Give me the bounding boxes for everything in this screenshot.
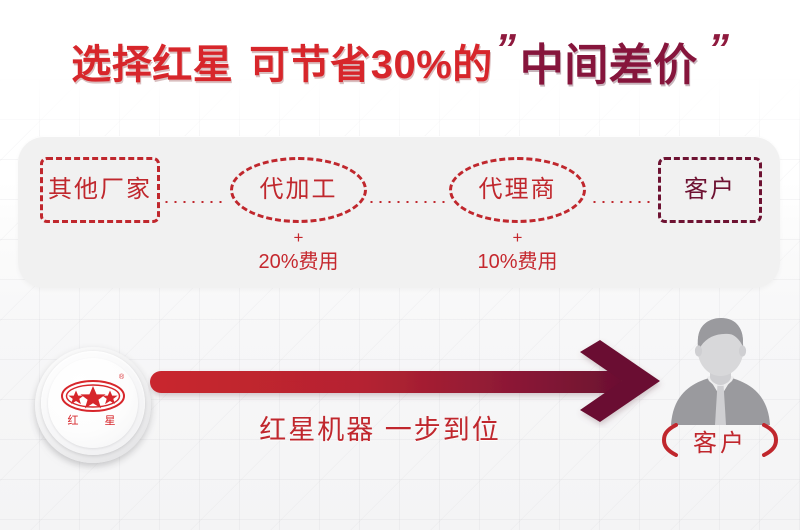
flow-node-label: 其他厂家 (48, 178, 152, 202)
arrow-caption: 红星机器 一步到位 (180, 408, 580, 447)
poster-canvas: 选择红星 可节省30%的 ” 中间差价 ” 其他厂家 代加工 + 20%费用 (0, 0, 800, 530)
registered-mark: ® (119, 373, 125, 381)
flow-node-fee-oem: + 20%费用 (230, 228, 367, 274)
fee-plus-sign: + (449, 228, 586, 248)
headline-highlight: 中间差价 (520, 29, 698, 93)
fee-plus-sign: + (230, 228, 367, 248)
bracket-left-icon (661, 423, 679, 457)
logo-char-2: 星 (105, 414, 116, 427)
flow-row: 其他厂家 代加工 + 20%费用 代理商 + 10%费用 客户 (18, 136, 780, 288)
flow-connector-2 (367, 200, 447, 204)
flow-node-fee-agent: + 10%费用 (449, 228, 586, 274)
flow-node-agent[interactable]: 代理商 (449, 157, 586, 223)
customer-label-tag: 客户 (645, 420, 795, 460)
customer-avatar (663, 313, 778, 425)
quote-open-mark: ” (490, 28, 518, 70)
flow-node-oem-processing[interactable]: 代加工 (230, 157, 367, 223)
headline-part1: 选择红星 (71, 32, 233, 90)
flow-connector-1 (162, 200, 228, 204)
middleman-flow-panel: 其他厂家 代加工 + 20%费用 代理商 + 10%费用 客户 (18, 136, 780, 288)
fee-amount: 10%费用 (477, 251, 557, 273)
hongxing-star-emblem-icon: ® 红 星 (48, 358, 138, 448)
flow-node-label: 代加工 (260, 178, 338, 202)
headline-part2: 可节省30%的 (249, 32, 493, 90)
flow-connector-3 (590, 200, 656, 204)
flow-node-label: 代理商 (479, 178, 557, 202)
flow-node-other-factory[interactable]: 其他厂家 (40, 157, 160, 223)
flow-node-customer[interactable]: 客户 (658, 157, 762, 223)
bracket-right-icon (761, 423, 779, 457)
quote-close-mark: ” (703, 28, 731, 70)
logo-char-1: 红 (68, 414, 79, 427)
page-title: 选择红星 可节省30%的 ” 中间差价 ” (0, 26, 800, 96)
businessman-silhouette-icon (663, 313, 778, 425)
flow-node-label: 客户 (684, 178, 736, 202)
customer-label-text: 客户 (693, 423, 747, 458)
fee-amount: 20%费用 (258, 251, 338, 273)
hongxing-logo-badge[interactable]: ® 红 星 (35, 345, 155, 465)
